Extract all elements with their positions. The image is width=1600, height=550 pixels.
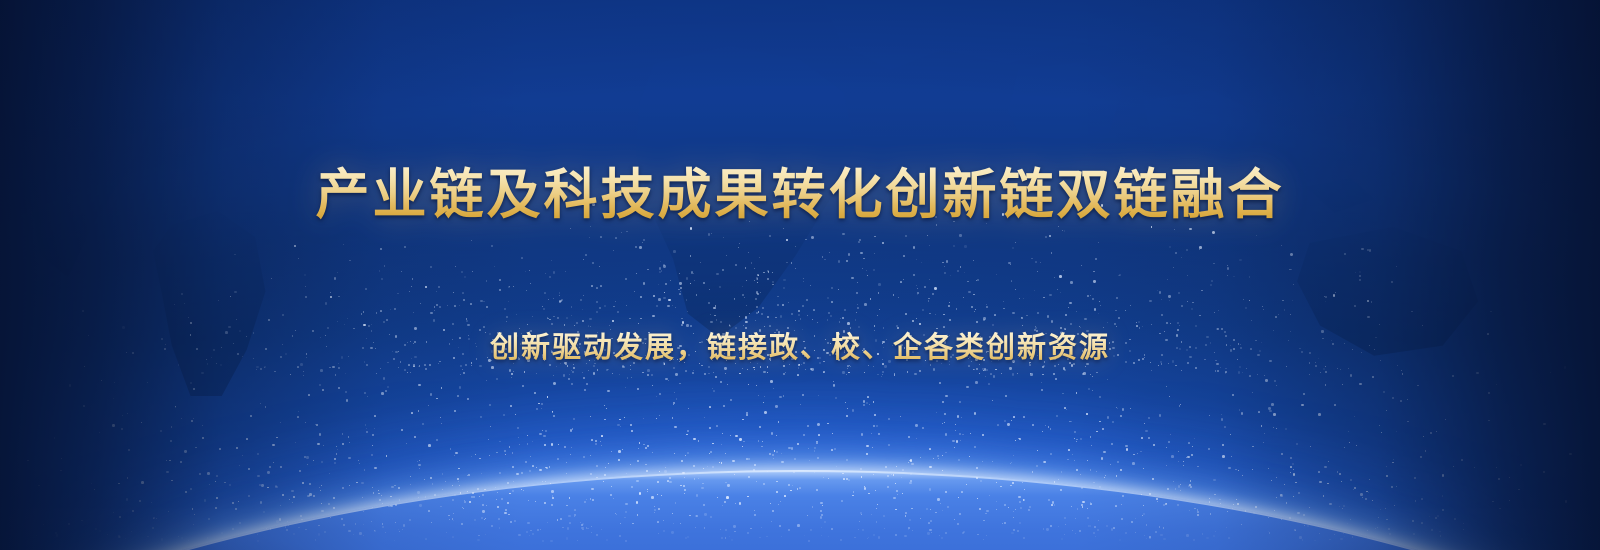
- banner-content: 产业链及科技成果转化创新链双链融合 创新驱动发展，链接政、校、企各类创新资源: [0, 0, 1600, 550]
- hero-banner: 产业链及科技成果转化创新链双链融合 创新驱动发展，链接政、校、企各类创新资源: [0, 0, 1600, 550]
- banner-headline: 产业链及科技成果转化创新链双链融合: [0, 164, 1600, 226]
- banner-subheadline: 创新驱动发展，链接政、校、企各类创新资源: [0, 328, 1600, 366]
